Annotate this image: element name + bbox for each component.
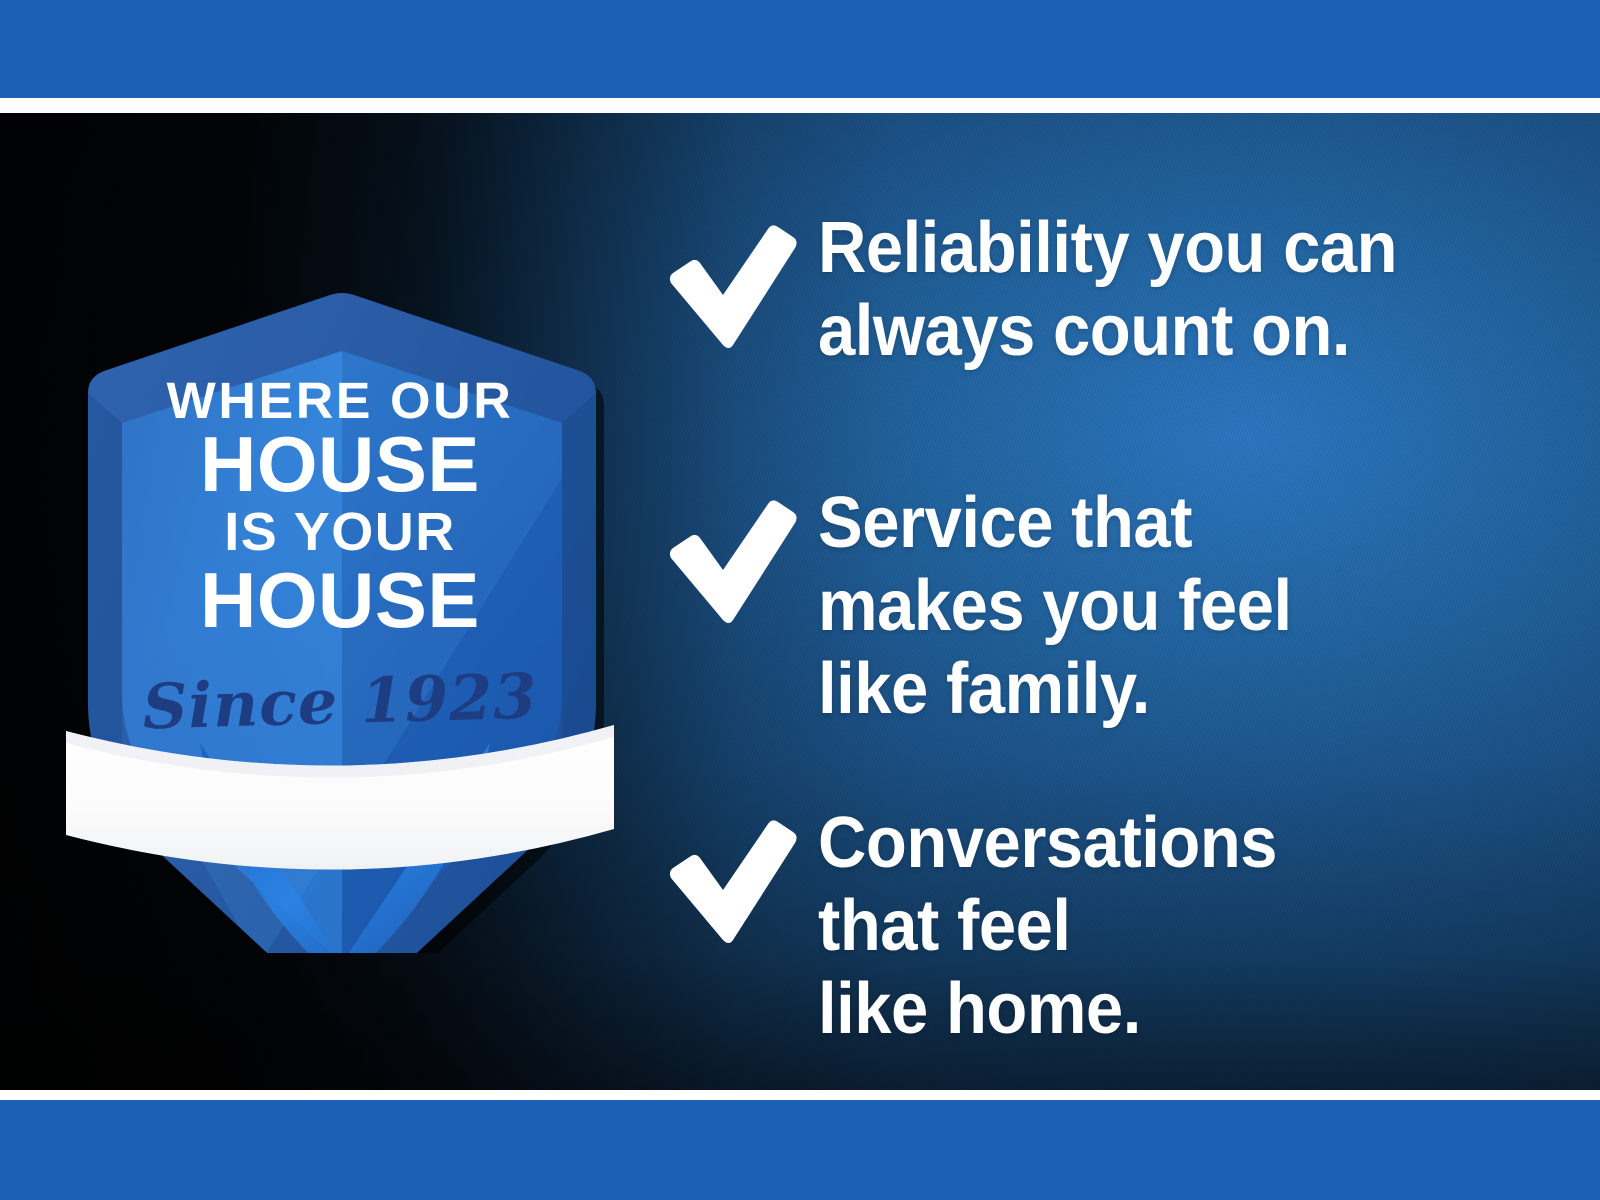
benefit-text-3: Conversations that feel like home. — [818, 798, 1508, 1051]
benefit-1-line-1: Reliability you can — [818, 207, 1508, 290]
bottom-brand-bar — [0, 1100, 1600, 1200]
benefit-item-3: Conversations that feel like home. — [660, 798, 1560, 1051]
benefit-3-line-2: that feel — [818, 885, 1508, 968]
benefit-item-1: Reliability you can always count on. — [660, 203, 1560, 373]
benefit-3-line-3: like home. — [818, 968, 1508, 1051]
top-white-divider — [0, 98, 1600, 113]
shield-left-edge-shade — [88, 393, 122, 953]
checkmark-icon — [660, 221, 800, 353]
benefit-2-line-3: like family. — [818, 648, 1508, 731]
benefits-list: Reliability you can always count on. Ser… — [660, 203, 1560, 1033]
benefit-text-1: Reliability you can always count on. — [818, 203, 1508, 373]
benefit-1-line-2: always count on. — [818, 290, 1508, 373]
benefit-text-2: Service that makes you feel like family. — [818, 478, 1508, 731]
bottom-white-divider — [0, 1090, 1600, 1100]
promo-graphic-canvas: WHERE OUR HOUSE IS YOUR HOUSE Since 1923… — [0, 0, 1600, 1200]
checkmark-icon — [660, 816, 800, 948]
benefit-2-line-1: Service that — [818, 482, 1508, 565]
shield-icon — [60, 273, 620, 953]
benefit-item-2: Service that makes you feel like family. — [660, 478, 1560, 731]
shield-right-edge-shade — [562, 393, 596, 953]
company-logo: WHERE OUR HOUSE IS YOUR HOUSE Since 1923 — [60, 273, 620, 953]
checkmark-icon — [660, 496, 800, 628]
benefit-2-line-2: makes you feel — [818, 565, 1508, 648]
benefit-3-line-1: Conversations — [818, 802, 1508, 885]
main-stage: WHERE OUR HOUSE IS YOUR HOUSE Since 1923… — [0, 113, 1600, 1090]
top-brand-bar — [0, 0, 1600, 98]
